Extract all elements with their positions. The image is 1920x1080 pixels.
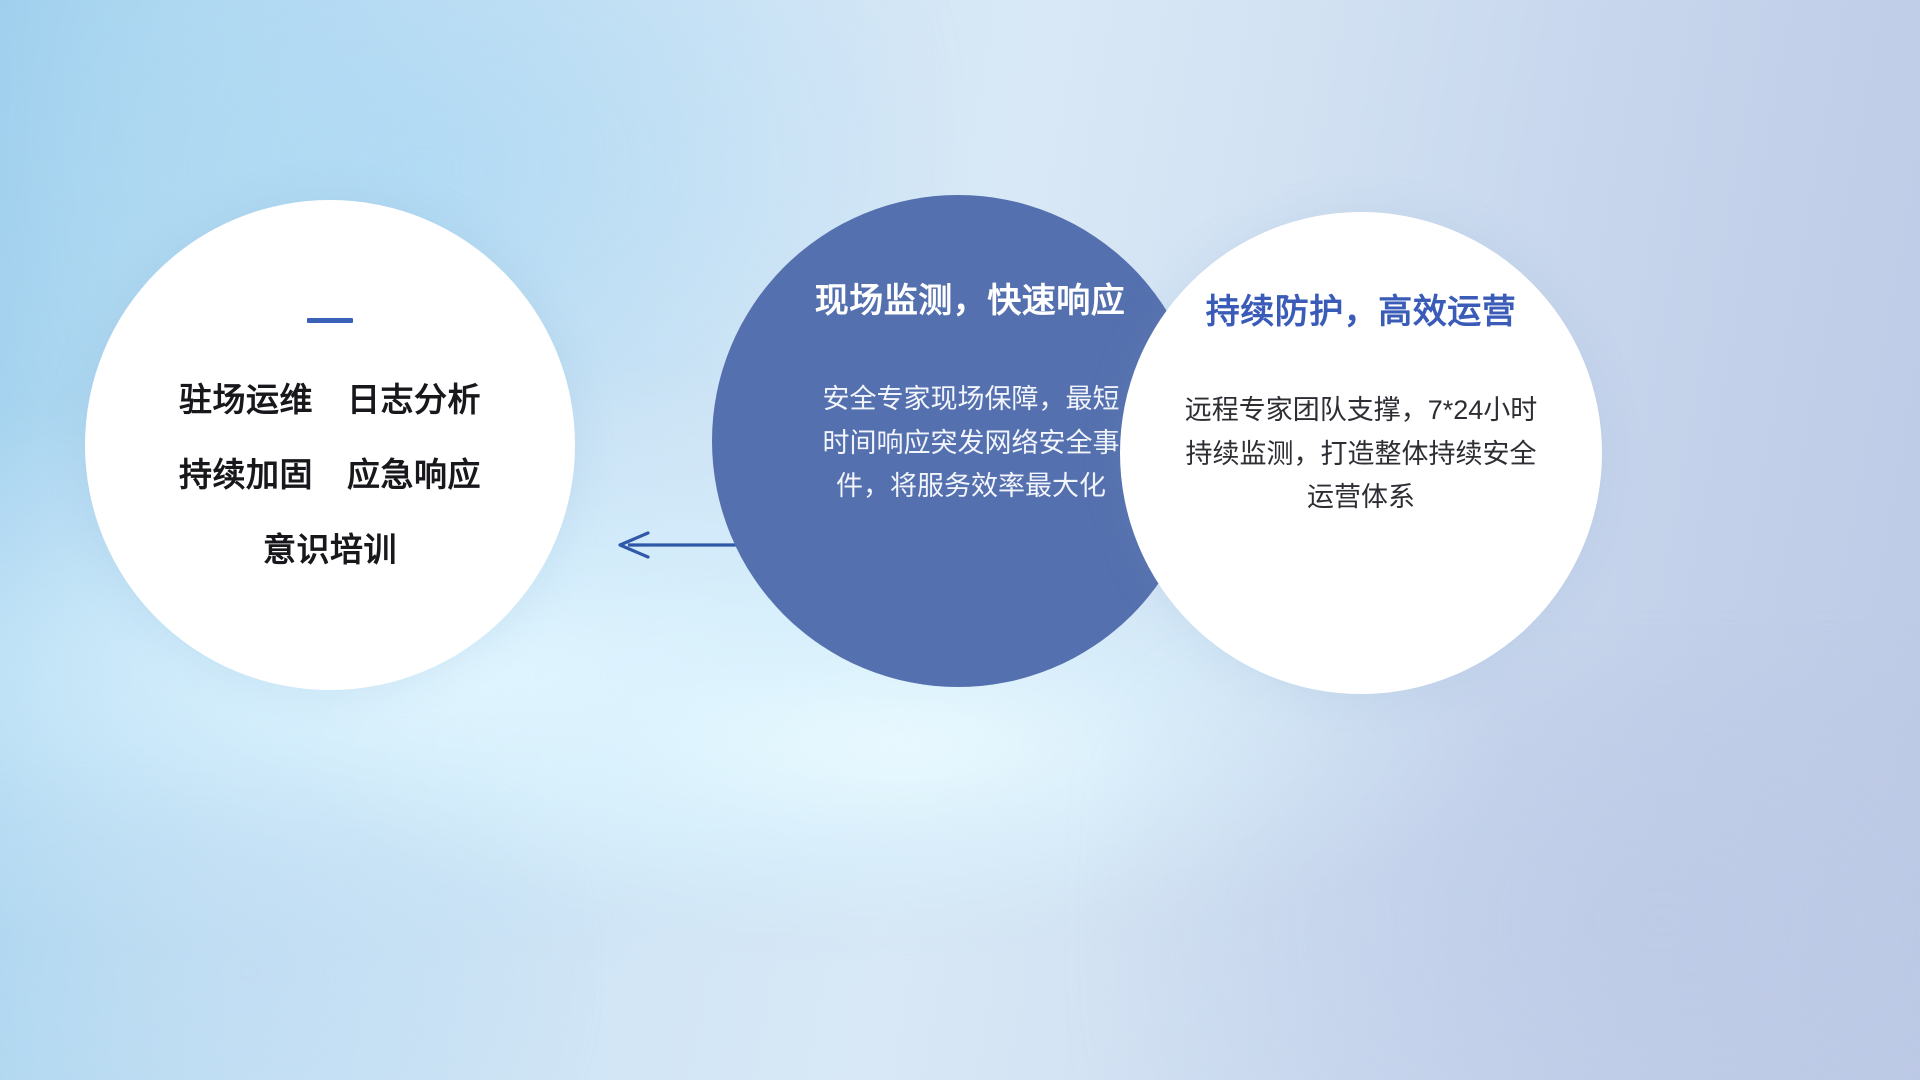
capabilities-circle[interactable]: 驻场运维 日志分析 持续加固 应急响应 意识培训	[85, 200, 575, 690]
capability-keyword: 应急响应	[347, 448, 481, 496]
capability-row: 意识培训	[179, 523, 481, 571]
capability-keyword: 日志分析	[347, 373, 481, 421]
capability-keyword: 驻场运维	[179, 373, 313, 421]
capability-keyword: 意识培训	[263, 523, 397, 571]
divider-dash	[307, 318, 353, 323]
continuous-protection-circle[interactable]: 持续防护，高效运营 远程专家团队支撑，7*24小时持续监测，打造整体持续安全运营…	[1120, 212, 1602, 694]
capability-keyword: 持续加固	[179, 448, 313, 496]
continuous-body: 远程专家团队支撑，7*24小时持续监测，打造整体持续安全运营体系	[1176, 389, 1546, 520]
onsite-title: 现场监测，快速响应	[815, 273, 1126, 322]
continuous-title: 持续防护，高效运营	[1206, 284, 1517, 333]
capability-row: 持续加固 应急响应	[179, 448, 481, 496]
slide-canvas: 驻场运维 日志分析 持续加固 应急响应 意识培训 现场监测，快速响应 安全专家现…	[0, 0, 1920, 1080]
onsite-body: 安全专家现场保障，最短时间响应突发网络安全事件，将服务效率最大化	[816, 378, 1126, 509]
capability-row: 驻场运维 日志分析	[179, 373, 481, 421]
capability-keyword-list: 驻场运维 日志分析 持续加固 应急响应 意识培训	[179, 373, 481, 571]
